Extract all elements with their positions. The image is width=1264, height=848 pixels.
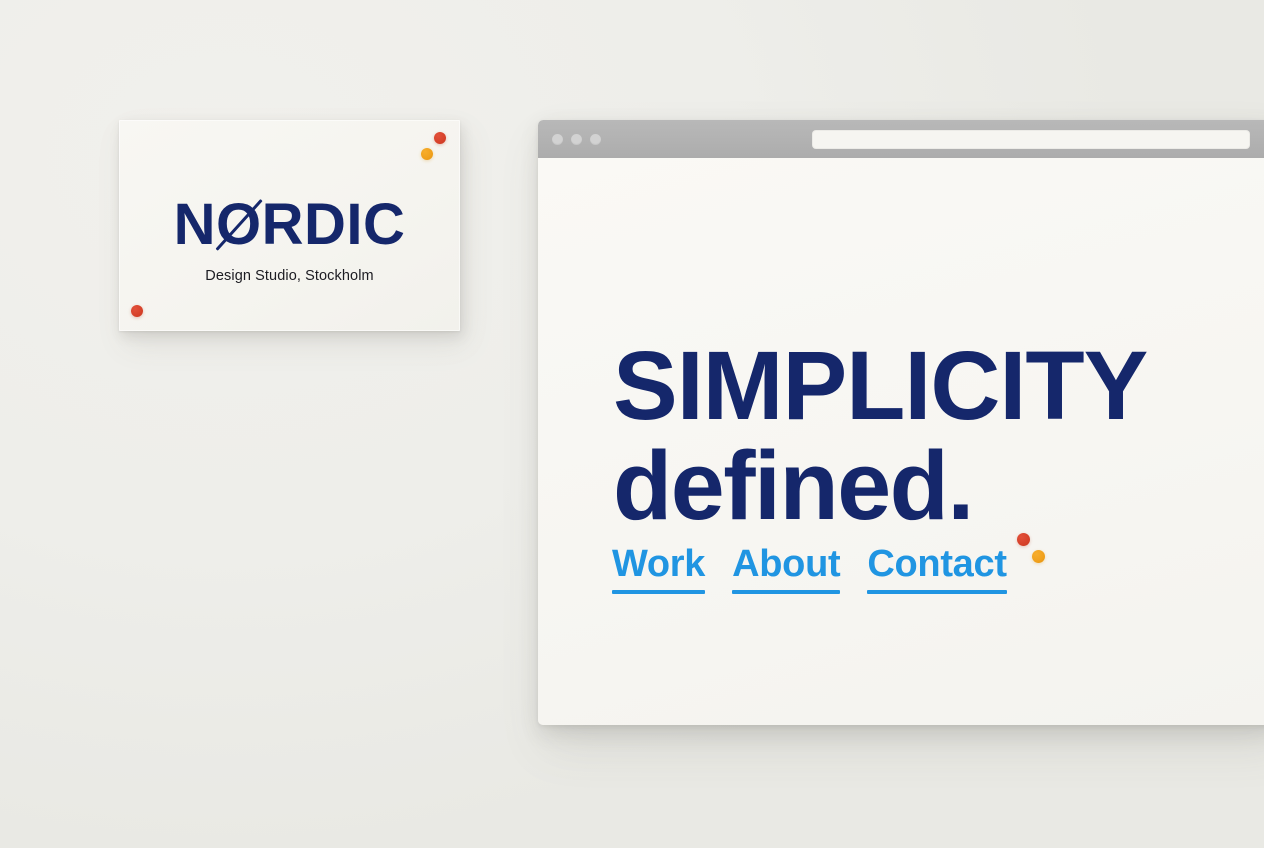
traffic-light-group	[552, 134, 601, 145]
card-logo-letters-rdic: RDIC	[262, 192, 406, 257]
card-logo-letter-n: N	[174, 192, 216, 257]
nav-link-work[interactable]: Work	[612, 543, 705, 594]
nav-link-about[interactable]: About	[732, 543, 840, 594]
minimize-dot-icon[interactable]	[571, 134, 582, 145]
card-accent-dot-red	[434, 132, 446, 144]
card-subtitle: Design Studio, Stockholm	[119, 268, 460, 284]
browser-viewport: SIMPLICITY defined.	[538, 158, 1264, 725]
hero-headline-line-1: SIMPLICITY	[613, 338, 1147, 433]
hero-section: SIMPLICITY defined.	[613, 338, 1147, 536]
card-logo-wordmark: NORDIC	[119, 196, 460, 254]
hero-nav-links: Work About Contact	[612, 543, 1007, 594]
card-accent-dot-orange	[421, 148, 433, 160]
hero-headline-line-2: defined.	[613, 437, 1147, 536]
scene-canvas: NORDIC Design Studio, Stockholm SIMPLICI…	[0, 0, 1264, 848]
browser-chrome-bar	[538, 120, 1264, 158]
nav-accent-dot-orange	[1032, 550, 1045, 563]
slashed-o-icon: O	[216, 196, 262, 254]
maximize-dot-icon[interactable]	[590, 134, 601, 145]
business-card: NORDIC Design Studio, Stockholm	[119, 120, 460, 331]
address-bar[interactable]	[812, 130, 1250, 149]
nav-accent-dot-red	[1017, 533, 1030, 546]
card-accent-dot-red-bottom	[131, 305, 143, 317]
browser-window: SIMPLICITY defined.	[538, 120, 1264, 725]
nav-link-contact[interactable]: Contact	[867, 543, 1006, 594]
close-dot-icon[interactable]	[552, 134, 563, 145]
